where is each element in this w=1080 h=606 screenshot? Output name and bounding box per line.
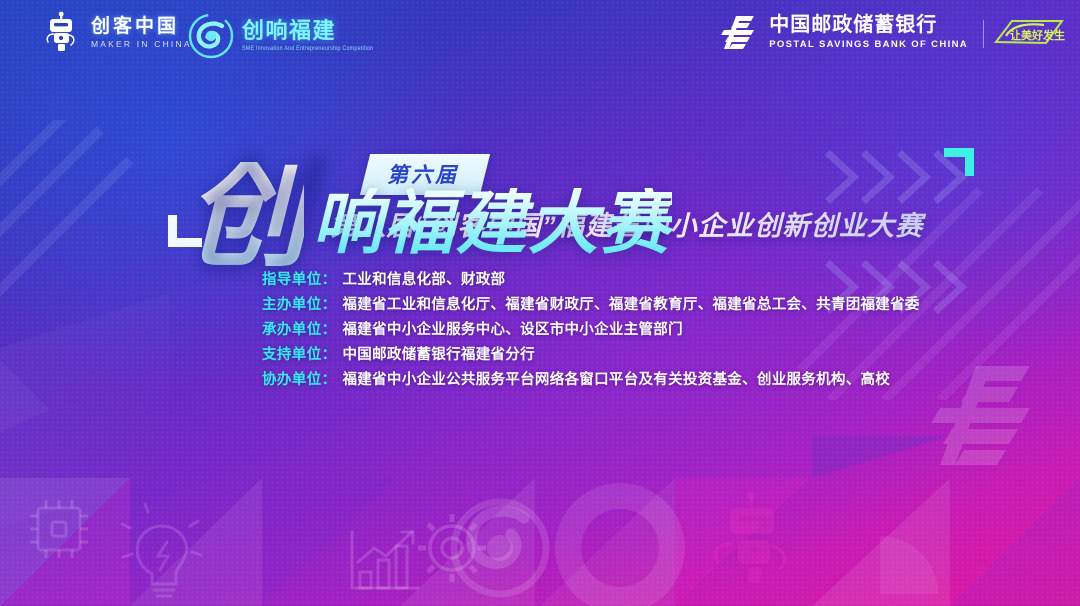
organizer-value: 福建省中小企业公共服务平台网络各窗口平台及有关投资基金、创业服务机构、高校 <box>343 368 891 393</box>
logo-postal-savings-bank: 中国邮政储蓄银行 POSTAL SAVINGS BANK OF CHINA <box>720 14 968 50</box>
organizer-value: 工业和信息化部、财政部 <box>343 268 506 293</box>
logo-cxfj-en: SME Innovation And Entrepreneurship Comp… <box>242 47 373 53</box>
header-divider <box>983 20 984 48</box>
corner-bracket-right <box>944 148 974 176</box>
logo-maker-in-china: 创客中国 MAKER IN CHINA <box>40 11 192 55</box>
svg-text:让美好发生: 让美好发生 <box>1010 28 1065 42</box>
logo-psbc-en: POSTAL SAVINGS BANK OF CHINA <box>769 40 968 50</box>
organizer-label: 协办单位： <box>262 368 337 393</box>
logo-mic-cn: 创客中国 <box>91 17 192 36</box>
organizer-value: 中国邮政储蓄银行福建省分行 <box>343 343 535 368</box>
logo-chuangxiang-fujian: 创响福建 SME Innovation And Entrepreneurship… <box>188 13 373 59</box>
corner-bracket-left <box>168 215 202 247</box>
organizer-label: 支持单位： <box>262 343 337 368</box>
organizer-info-list: 指导单位： 工业和信息化部、财政部 主办单位： 福建省工业和信息化厅、福建省财政… <box>262 268 920 393</box>
organizer-row: 主办单位： 福建省工业和信息化厅、福建省财政厅、福建省教育厅、福建省总工会、共青… <box>262 293 920 318</box>
logo-mic-en: MAKER IN CHINA <box>91 40 192 49</box>
organizer-label: 承办单位： <box>262 318 337 343</box>
hero-title-rest: 响福建大赛 <box>312 188 672 258</box>
hero-title: 创 响福建大赛 <box>186 162 672 266</box>
logo-cxfj-cn: 创响福建 <box>242 20 373 42</box>
organizer-label: 主办单位： <box>262 293 337 318</box>
slogan-badge-icon: 让美好发生 <box>988 16 1066 50</box>
hero-title-zone: 第六届 创 响福建大赛 <box>0 70 1080 250</box>
organizer-row: 指导单位： 工业和信息化部、财政部 <box>262 268 920 293</box>
organizer-row: 支持单位： 中国邮政储蓄银行福建省分行 <box>262 343 920 368</box>
psbc-logo-icon <box>720 14 760 50</box>
organizer-value: 福建省工业和信息化厅、福建省财政厅、福建省教育厅、福建省总工会、共青团福建省委 <box>343 293 920 318</box>
organizer-label: 指导单位： <box>262 268 337 293</box>
poster-canvas: 创客中国 MAKER IN CHINA 创响福建 SME Innovation … <box>0 0 1080 606</box>
logo-psbc-cn: 中国邮政储蓄银行 <box>769 15 968 35</box>
organizer-row: 协办单位： 福建省中小企业公共服务平台网络各窗口平台及有关投资基金、创业服务机构… <box>262 368 920 393</box>
robot-icon <box>40 11 84 55</box>
header-logo-bar: 创客中国 MAKER IN CHINA 创响福建 SME Innovation … <box>0 0 1080 66</box>
bar-chart-icon <box>352 532 418 588</box>
organizer-row: 承办单位： 福建省中小企业服务中心、设区市中小企业主管部门 <box>262 318 920 343</box>
hero-title-lead: 创 <box>186 162 304 266</box>
organizer-value: 福建省中小企业服务中心、设区市中小企业主管部门 <box>343 318 683 343</box>
bottom-decor-band <box>0 436 1080 606</box>
swirl-icon <box>188 13 234 59</box>
